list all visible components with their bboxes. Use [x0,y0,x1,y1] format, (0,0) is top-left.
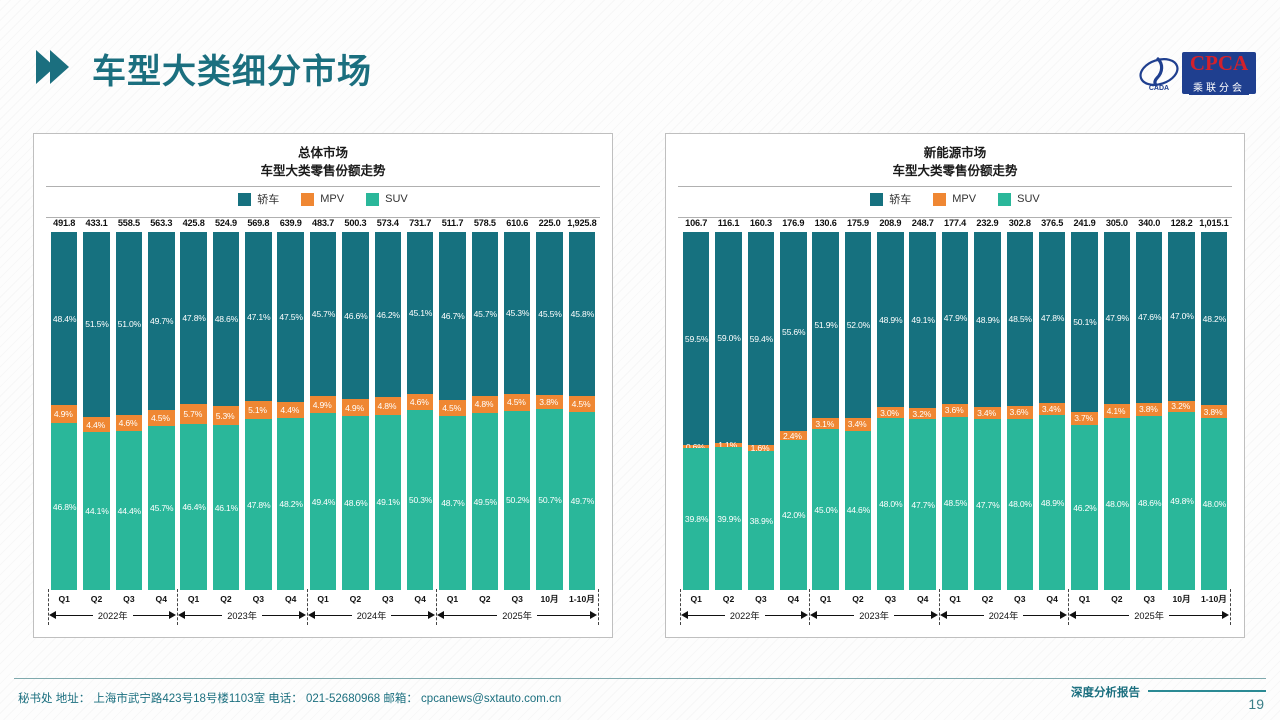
arrow-left-icon [437,611,444,619]
axis-tick-label: Q3 [745,594,777,604]
bar-group: 491.848.4%4.9%46.8%433.151.5%4.4%44.1%55… [48,218,598,590]
legend-swatch-icon [933,193,946,206]
bar-segment-轿车[interactable]: 59.0% [715,232,742,443]
bar-segment-轿车[interactable]: 47.5% [277,232,304,402]
bar-segment-MPV[interactable]: 5.3% [213,406,240,425]
bar-segment-label: 45.3% [506,308,529,318]
bar-segment-label: 3.8% [1204,407,1223,417]
bar-segment-label: 48.6% [344,498,367,508]
bar-column[interactable]: 573.446.2%4.8%49.1% [372,218,404,590]
bar-segment-MPV[interactable]: 2.4% [780,431,807,440]
bar-stack: 46.7%4.5%48.7% [439,232,466,590]
bar-column[interactable]: 511.746.7%4.5%48.7% [436,218,468,590]
bar-stack: 45.8%4.5%49.7% [569,232,596,590]
chart-title-overall: 总体市场 车型大类零售份额走势 [34,144,612,180]
axis-group-separator [809,589,810,625]
bar-segment-SUV[interactable]: 48.0% [1007,419,1034,591]
bar-segment-SUV[interactable]: 49.1% [375,415,402,591]
axis-tick-label: Q1 [177,594,209,604]
bar-total-label: 610.6 [506,218,528,228]
axis-tick-label: Q1 [680,594,712,604]
bar-segment-MPV[interactable]: 3.4% [845,418,872,430]
bar-segment-label: 48.2% [1203,314,1226,324]
legend-item-SUV[interactable]: SUV [366,193,408,206]
bar-segment-MPV[interactable]: 4.4% [277,402,304,418]
bar-segment-SUV[interactable]: 47.7% [974,419,1001,590]
bar-segment-轿车[interactable]: 48.6% [213,232,240,406]
axis-group-label: 2023年 [854,608,894,622]
bar-segment-SUV[interactable]: 49.8% [1168,412,1195,590]
bar-segment-label: 39.9% [717,514,740,524]
bar-segment-SUV[interactable]: 46.2% [1071,425,1098,590]
bar-column[interactable]: 1,925.845.8%4.5%49.7% [566,218,598,590]
bar-column[interactable]: 305.047.9%4.1%48.0% [1101,218,1133,590]
bar-segment-MPV[interactable]: 3.4% [1039,403,1066,415]
bar-column[interactable]: 176.955.6%2.4%42.0% [777,218,809,590]
bar-segment-label: 4.8% [475,399,494,409]
bar-stack: 45.7%4.9%49.4% [310,232,337,590]
bar-segment-SUV[interactable]: 49.5% [472,413,499,590]
arrow-right-icon [1060,611,1067,619]
bar-segment-SUV[interactable]: 48.6% [1136,416,1163,590]
bar-total-label: 639.9 [280,218,302,228]
bar-segment-轿车[interactable]: 49.7% [148,232,175,410]
bar-stack: 48.4%4.9%46.8% [51,232,78,590]
bar-segment-label: 48.0% [879,499,902,509]
bar-segment-label: 44.1% [85,506,108,516]
bar-total-label: 425.8 [183,218,205,228]
axis-group-separator [680,589,681,625]
bar-stack: 46.6%4.9%48.6% [342,232,369,590]
bar-column[interactable]: 1,015.148.2%3.8%48.0% [1198,218,1230,590]
bar-segment-label: 48.9% [976,315,999,325]
chart-subtitle: 车型大类零售份额走势 [34,162,612,180]
axis-group-separator [1068,589,1069,625]
axis-group-2023年: 2023年 [809,607,938,623]
bar-segment-MPV[interactable]: 5.1% [245,401,272,419]
bar-segment-label: 45.7% [150,503,173,513]
legend-item-MPV[interactable]: MPV [933,193,976,206]
bar-segment-轿车[interactable]: 59.5% [683,232,710,445]
axis-tick-label: Q3 [1133,594,1165,604]
bar-segment-label: 48.7% [441,498,464,508]
bar-segment-label: 4.4% [86,420,105,430]
arrow-right-icon [299,611,306,619]
bar-column[interactable]: 225.045.5%3.8%50.7% [533,218,565,590]
axis-tick-label: Q2 [80,594,112,604]
bar-segment-SUV[interactable]: 48.5% [942,417,969,591]
axis-tick-label: Q1 [939,594,971,604]
bar-segment-label: 49.5% [474,497,497,507]
bar-segment-MPV[interactable]: 3.8% [1201,405,1228,419]
bar-column[interactable]: 248.749.1%3.2%47.7% [907,218,939,590]
arrow-left-icon [940,611,947,619]
bar-segment-label: 48.6% [1138,498,1161,508]
legend-label: MPV [320,193,344,205]
legend-swatch-icon [301,193,314,206]
bar-segment-label: 3.1% [815,419,834,429]
axis-group-2024年: 2024年 [939,607,1068,623]
bar-column[interactable]: 731.745.1%4.6%50.3% [404,218,436,590]
bar-segment-MPV[interactable]: 4.9% [51,405,78,423]
bar-segment-SUV[interactable]: 47.8% [245,419,272,590]
bar-segment-SUV[interactable]: 38.9% [748,451,775,590]
bar-segment-SUV[interactable]: 47.7% [909,419,936,590]
bar-segment-SUV[interactable]: 42.0% [780,440,807,590]
bar-column[interactable]: 491.848.4%4.9%46.8% [48,218,80,590]
bar-total-label: 563.3 [150,218,172,228]
bar-stack: 48.2%3.8%48.0% [1201,232,1228,590]
bar-segment-label: 55.6% [782,327,805,337]
chart-plot-overall: 491.848.4%4.9%46.8%433.151.5%4.4%44.1%55… [48,218,598,618]
legend-item-轿车[interactable]: 轿车 [870,191,911,207]
bar-segment-label: 45.1% [409,308,432,318]
bar-segment-label: 59.0% [717,333,740,343]
bar-total-label: 491.8 [53,218,75,228]
bar-segment-label: 48.2% [279,499,302,509]
bar-segment-MPV[interactable]: 3.2% [909,408,936,419]
bar-column[interactable]: 425.847.8%5.7%46.4% [177,218,209,590]
bar-segment-轿车[interactable]: 59.4% [748,232,775,445]
bar-segment-label: 47.1% [247,312,270,322]
bar-segment-MPV[interactable]: 4.9% [342,399,369,417]
bar-segment-label: 5.3% [216,411,235,421]
bar-segment-轿车[interactable]: 45.5% [536,232,563,395]
bar-segment-SUV[interactable]: 46.1% [213,425,240,590]
axis-group-separator [1230,589,1231,625]
axis-group-2023年: 2023年 [177,607,306,623]
bar-segment-轿车[interactable]: 48.2% [1201,232,1228,405]
bar-segment-轿车[interactable]: 45.1% [407,232,434,393]
axis-tick-label: Q3 [113,594,145,604]
bar-segment-MPV[interactable]: 4.6% [407,394,434,410]
bar-segment-label: 39.8% [685,514,708,524]
bar-segment-label: 3.4% [1042,404,1061,414]
bar-segment-label: 59.5% [685,334,708,344]
bar-segment-SUV[interactable]: 45.7% [148,426,175,590]
legend-swatch-icon [870,193,883,206]
axis-tick-label: Q3 [372,594,404,604]
axis-tick-label: Q1 [1068,594,1100,604]
bar-segment-SUV[interactable]: 49.4% [310,413,337,590]
axis-tick-label: Q3 [874,594,906,604]
bar-total-label: 573.4 [377,218,399,228]
bar-segment-轿车[interactable]: 47.8% [1039,232,1066,403]
bar-segment-轿车[interactable]: 45.7% [310,232,337,396]
bar-column[interactable]: 177.447.9%3.6%48.5% [939,218,971,590]
chart-title-main: 新能源市场 [666,144,1244,162]
bar-stack: 51.0%4.6%44.4% [116,232,143,590]
axis-tick-label: Q4 [404,594,436,604]
bar-segment-轿车[interactable]: 46.7% [439,232,466,399]
bar-segment-MPV[interactable]: 4.6% [116,415,143,431]
chart-axis-overall: Q1Q2Q3Q4Q1Q2Q3Q4Q1Q2Q3Q4Q1Q2Q310月1-10月 2… [48,590,598,620]
bar-segment-label: 47.6% [1138,312,1161,322]
axis-tick-label: Q4 [777,594,809,604]
chart-legend-overall: 轿车MPVSUV [34,187,612,211]
bar-column[interactable]: 558.551.0%4.6%44.4% [113,218,145,590]
bar-column[interactable]: 302.848.5%3.6%48.0% [1004,218,1036,590]
bar-column[interactable]: 340.047.6%3.8%48.6% [1133,218,1165,590]
bar-segment-SUV[interactable]: 48.0% [877,418,904,590]
bar-segment-label: 48.5% [1009,314,1032,324]
bar-segment-轿车[interactable]: 45.7% [472,232,499,396]
axis-tick-label: Q3 [1004,594,1036,604]
bar-column[interactable]: 106.759.5%0.6%39.8% [680,218,712,590]
bar-segment-轿车[interactable]: 45.3% [504,232,531,394]
bar-segment-label: 48.6% [215,314,238,324]
bar-stack: 47.9%3.6%48.5% [942,232,969,590]
bar-segment-MPV[interactable]: 3.1% [812,418,839,429]
axis-tick-label: Q4 [145,594,177,604]
bar-total-label: 433.1 [86,218,108,228]
bar-segment-轿车[interactable]: 45.8% [569,232,596,396]
legend-item-MPV[interactable]: MPV [301,193,344,206]
bar-segment-MPV[interactable]: 5.7% [180,404,207,424]
bar-column[interactable]: 524.948.6%5.3%46.1% [210,218,242,590]
axis-tick-label: Q2 [210,594,242,604]
bar-column[interactable]: 175.952.0%3.4%44.6% [842,218,874,590]
bar-segment-轿车[interactable]: 48.9% [877,232,904,407]
bar-segment-SUV[interactable]: 49.7% [569,412,596,590]
legend-label: SUV [1017,193,1040,205]
bar-segment-label: 50.1% [1073,317,1096,327]
bar-segment-MPV[interactable]: 4.8% [472,396,499,413]
bar-segment-轿车[interactable]: 51.5% [83,232,110,416]
bar-segment-轿车[interactable]: 47.1% [245,232,272,401]
bar-segment-label: 47.9% [1106,313,1129,323]
page-title: 车型大类细分市场 [92,44,372,93]
bar-column[interactable]: 578.545.7%4.8%49.5% [469,218,501,590]
chart-title-nev: 新能源市场 车型大类零售份额走势 [666,144,1244,180]
bar-stack: 51.5%4.4%44.1% [83,232,110,590]
bar-stack: 59.0%1.1%39.9% [715,232,742,590]
bar-stack: 45.7%4.8%49.5% [472,232,499,590]
bar-column[interactable]: 376.547.8%3.4%48.9% [1036,218,1068,590]
bar-column[interactable]: 232.948.9%3.4%47.7% [971,218,1003,590]
axis-group-label: 2024年 [984,608,1024,622]
footer-report-label-group: 深度分析报告 [1071,684,1266,700]
bar-segment-SUV[interactable]: 48.0% [1201,418,1228,590]
bar-segment-label: 45.7% [312,309,335,319]
bar-segment-轿车[interactable]: 52.0% [845,232,872,418]
bar-segment-MPV[interactable]: 3.8% [1136,403,1163,417]
bar-segment-SUV[interactable]: 50.3% [407,410,434,590]
axis-tick-label: 1-10月 [1198,593,1230,605]
bar-segment-SUV[interactable]: 45.0% [812,429,839,590]
legend-swatch-icon [998,193,1011,206]
bar-segment-MPV[interactable]: 4.4% [83,417,110,433]
bar-column[interactable]: 128.247.0%3.2%49.8% [1165,218,1197,590]
bar-total-label: 1,925.8 [567,218,596,228]
bar-segment-轿车[interactable]: 47.8% [180,232,207,403]
chart-plot-nev: 106.759.5%0.6%39.8%116.159.0%1.1%39.9%16… [680,218,1230,618]
chart-panel-nev-market: 新能源市场 车型大类零售份额走势 轿车MPVSUV 106.759.5%0.6%… [665,133,1245,638]
bar-column[interactable]: 639.947.5%4.4%48.2% [275,218,307,590]
svg-text:CADA: CADA [1149,85,1169,92]
bar-segment-MPV[interactable]: 3.0% [877,407,904,418]
bar-segment-SUV[interactable]: 48.2% [277,418,304,590]
bar-total-label: 1,015.1 [1199,218,1228,228]
bar-column[interactable]: 116.159.0%1.1%39.9% [712,218,744,590]
bar-stack: 47.8%5.7%46.4% [180,232,207,590]
bar-total-label: 176.9 [782,218,804,228]
bar-segment-轿车[interactable]: 47.0% [1168,232,1195,400]
bar-column[interactable]: 241.950.1%3.7%46.2% [1068,218,1100,590]
bar-segment-MPV[interactable]: 3.8% [536,395,563,409]
arrow-left-icon [308,611,315,619]
bar-segment-轿车[interactable]: 46.2% [375,232,402,397]
chart-subtitle: 车型大类零售份额走势 [666,162,1244,180]
bar-total-label: 106.7 [685,218,707,228]
bar-segment-轿车[interactable]: 55.6% [780,232,807,431]
bar-segment-SUV[interactable]: 50.7% [536,409,563,591]
bar-segment-MPV[interactable]: 4.5% [439,400,466,416]
bar-segment-SUV[interactable]: 48.9% [1039,415,1066,590]
bar-total-label: 177.4 [944,218,966,228]
bar-column[interactable]: 208.948.9%3.0%48.0% [874,218,906,590]
bar-segment-MPV[interactable]: 4.8% [375,397,402,414]
arrow-left-icon [178,611,185,619]
bar-segment-label: 4.8% [378,401,397,411]
bar-segment-label: 46.4% [182,502,205,512]
page-number: 19 [1248,696,1264,712]
arrow-left-icon [1069,611,1076,619]
axis-group-label: 2024年 [352,608,392,622]
bar-total-label: 731.7 [409,218,431,228]
bar-column[interactable]: 130.651.9%3.1%45.0% [809,218,841,590]
axis-tick-label: Q1 [436,594,468,604]
bar-column[interactable]: 610.645.3%4.5%50.2% [501,218,533,590]
bar-segment-label: 51.5% [85,319,108,329]
bar-total-label: 524.9 [215,218,237,228]
bar-total-label: 500.3 [344,218,366,228]
bar-segment-SUV[interactable]: 39.8% [683,448,710,591]
bar-segment-MPV[interactable]: 4.5% [504,394,531,410]
bar-segment-MPV[interactable]: 3.4% [974,407,1001,419]
bar-segment-label: 45.8% [571,309,594,319]
bar-segment-label: 46.8% [53,502,76,512]
bar-segment-label: 45.7% [474,309,497,319]
bar-segment-轿车[interactable]: 47.6% [1136,232,1163,402]
bar-stack: 59.4%1.6%38.9% [748,232,775,590]
legend-item-SUV[interactable]: SUV [998,193,1040,206]
bar-segment-label: 48.0% [1009,499,1032,509]
bar-stack: 47.5%4.4%48.2% [277,232,304,590]
bar-segment-MPV[interactable]: 4.5% [148,410,175,426]
bar-column[interactable]: 160.359.4%1.6%38.9% [745,218,777,590]
bar-segment-label: 47.8% [1041,313,1064,323]
bar-segment-label: 52.0% [847,320,870,330]
axis-tick-label: Q1 [48,594,80,604]
bar-segment-SUV[interactable]: 48.7% [439,416,466,591]
axis-group-separator [177,589,178,625]
bar-stack: 49.7%4.5%45.7% [148,232,175,590]
bar-segment-轿车[interactable]: 48.9% [974,232,1001,407]
arrow-right-icon [590,611,597,619]
axis-tick-label: 10月 [533,593,565,605]
bar-stack: 47.0%3.2%49.8% [1168,232,1195,590]
bar-segment-label: 46.7% [441,311,464,321]
bar-column[interactable]: 433.151.5%4.4%44.1% [80,218,112,590]
arrow-left-icon [49,611,56,619]
bar-column[interactable]: 483.745.7%4.9%49.4% [307,218,339,590]
bar-segment-label: 4.1% [1107,406,1126,416]
bar-segment-MPV[interactable]: 4.1% [1104,404,1131,419]
bar-segment-轿车[interactable]: 47.9% [942,232,969,403]
bar-total-label: 232.9 [976,218,998,228]
bar-segment-SUV[interactable]: 46.4% [180,424,207,590]
bar-segment-轿车[interactable]: 48.4% [51,232,78,405]
bar-segment-label: 4.6% [119,418,138,428]
bar-segment-label: 4.9% [345,403,364,413]
bar-segment-SUV[interactable]: 44.6% [845,431,872,591]
bar-segment-轿车[interactable]: 49.1% [909,232,936,408]
bar-segment-SUV[interactable]: 46.8% [51,423,78,590]
bar-stack: 51.9%3.1%45.0% [812,232,839,590]
bar-segment-label: 42.0% [782,510,805,520]
bar-segment-label: 4.5% [572,399,591,409]
bar-column[interactable]: 563.349.7%4.5%45.7% [145,218,177,590]
axis-group-separator [939,589,940,625]
bar-segment-轿车[interactable]: 47.9% [1104,232,1131,403]
bar-segment-label: 3.7% [1074,413,1093,423]
bar-segment-轿车[interactable]: 51.0% [116,232,143,415]
bar-stack: 48.6%5.3%46.1% [213,232,240,590]
bar-segment-MPV[interactable]: 3.6% [1007,406,1034,419]
bar-segment-SUV[interactable]: 48.6% [342,416,369,590]
axis-group-separator [307,589,308,625]
bar-segment-MPV[interactable]: 4.5% [569,396,596,412]
arrow-left-icon [681,611,688,619]
bar-segment-轿车[interactable]: 50.1% [1071,232,1098,411]
bar-total-label: 208.9 [879,218,901,228]
bar-segment-MPV[interactable]: 3.2% [1168,401,1195,412]
bar-segment-SUV[interactable]: 50.2% [504,411,531,591]
bar-segment-label: 4.6% [410,397,429,407]
bar-segment-SUV[interactable]: 48.0% [1104,418,1131,590]
axis-group-label: 2022年 [725,608,765,622]
bar-total-label: 248.7 [912,218,934,228]
cpca-logo: CADA CPCA 乘联分会 [1138,50,1258,96]
bar-segment-轿车[interactable]: 46.6% [342,232,369,399]
bar-segment-MPV[interactable]: 3.6% [942,404,969,417]
page-footer: 秘书处 地址： 上海市武宁路423号18号楼1103室 电话： 021-5268… [0,678,1280,720]
logo-brand-text: CPCA [1190,51,1248,76]
bar-segment-SUV[interactable]: 44.1% [83,432,110,590]
axis-tick-label: Q2 [339,594,371,604]
bar-total-label: 116.1 [718,218,739,228]
bar-segment-轿车[interactable]: 48.5% [1007,232,1034,405]
bar-segment-label: 47.8% [247,500,270,510]
bar-segment-SUV[interactable]: 39.9% [715,447,742,590]
axis-tick-label: 1-10月 [566,593,598,605]
bar-segment-MPV[interactable]: 4.9% [310,396,337,414]
legend-item-轿车[interactable]: 轿车 [238,191,279,207]
bar-column[interactable]: 569.847.1%5.1%47.8% [242,218,274,590]
logo-subtitle: 乘联分会 [1189,78,1249,95]
axis-group-2025年: 2025年 [436,607,598,623]
bar-segment-SUV[interactable]: 44.4% [116,431,143,590]
bar-segment-轿车[interactable]: 51.9% [812,232,839,418]
bar-segment-label: 45.5% [538,309,561,319]
bar-segment-label: 46.2% [1073,503,1096,513]
bar-column[interactable]: 500.346.6%4.9%48.6% [339,218,371,590]
bar-segment-label: 47.7% [976,500,999,510]
bar-segment-MPV[interactable]: 3.7% [1071,412,1098,425]
axis-tick-label: Q4 [907,594,939,604]
bar-segment-label: 3.8% [539,397,558,407]
